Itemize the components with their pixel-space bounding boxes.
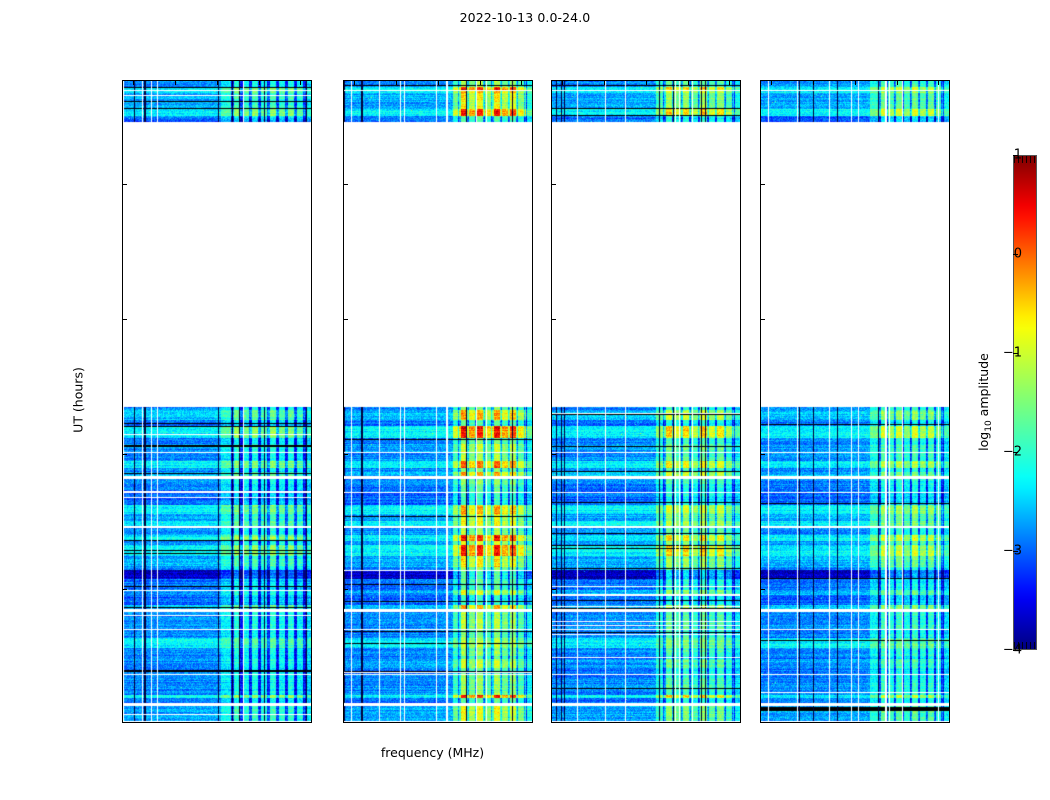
y-tick-mark xyxy=(552,454,556,455)
y-tick-mark xyxy=(123,184,127,185)
x-tick-mark xyxy=(438,81,439,85)
spectrogram-image xyxy=(123,81,311,722)
spectrogram-panel-xy[interactable]: XY, V13*V17=EA18*EA210510152032033535036… xyxy=(551,80,741,723)
colorbar-tick-mark xyxy=(1013,551,1018,552)
x-tick-mark xyxy=(175,81,176,85)
x-tick-mark xyxy=(855,81,856,85)
x-tick-mark xyxy=(217,81,218,85)
x-tick-mark xyxy=(604,81,605,85)
colorbar-gradient xyxy=(1014,156,1036,649)
y-tick-mark xyxy=(344,589,348,590)
colorbar[interactable] xyxy=(1013,155,1037,650)
figure-suptitle: 2022-10-13 0.0-24.0 xyxy=(0,10,1050,25)
spectrogram-image xyxy=(344,81,532,722)
colorbar-label-post: amplitude xyxy=(976,353,991,420)
x-tick-mark xyxy=(396,81,397,85)
y-tick-mark xyxy=(761,589,765,590)
colorbar-label-pre: log xyxy=(976,432,991,451)
y-tick-mark xyxy=(123,589,127,590)
y-tick-mark xyxy=(761,184,765,185)
x-tick-mark xyxy=(521,81,522,85)
y-tick-mark xyxy=(552,319,556,320)
colorbar-tick-mark xyxy=(1013,452,1018,453)
y-tick-mark xyxy=(123,454,127,455)
figure-canvas: 2022-10-13 0.0-24.0 UT (hours) frequency… xyxy=(0,0,1050,800)
spectrogram-image xyxy=(552,81,740,722)
x-tick-mark xyxy=(897,81,898,85)
y-tick-mark xyxy=(344,454,348,455)
colorbar-label-sub: 10 xyxy=(984,420,994,431)
spectrogram-image xyxy=(761,81,949,722)
x-axis-label: frequency (MHz) xyxy=(0,745,865,760)
x-tick-mark xyxy=(813,81,814,85)
x-tick-mark xyxy=(259,81,260,85)
spectrogram-panel-yx[interactable]: YX, V13*V17=EA18*EA210510152032033535036… xyxy=(760,80,950,723)
x-tick-mark xyxy=(354,81,355,85)
x-tick-mark xyxy=(300,81,301,85)
spectrogram-panel-xx[interactable]: XX, V13*V17=EA18*EA210510152032033535036… xyxy=(122,80,312,723)
colorbar-tick-mark xyxy=(1013,155,1018,156)
spectrogram-panel-yy[interactable]: YY, V13*V17=EA18*EA210510152032033535036… xyxy=(343,80,533,723)
x-tick-mark xyxy=(938,81,939,85)
y-tick-mark xyxy=(761,319,765,320)
colorbar-tick-mark xyxy=(1013,254,1018,255)
x-tick-mark xyxy=(133,81,134,85)
colorbar-tick-mark xyxy=(1013,650,1018,651)
x-tick-mark xyxy=(729,81,730,85)
y-tick-mark xyxy=(344,319,348,320)
x-tick-mark xyxy=(646,81,647,85)
y-tick-mark xyxy=(123,319,127,320)
y-axis-label: UT (hours) xyxy=(71,367,86,433)
y-tick-mark xyxy=(761,454,765,455)
x-tick-mark xyxy=(688,81,689,85)
y-tick-mark xyxy=(552,184,556,185)
y-tick-mark xyxy=(552,589,556,590)
x-tick-mark xyxy=(562,81,563,85)
x-tick-mark xyxy=(480,81,481,85)
colorbar-label: log10 amplitude xyxy=(976,353,994,451)
y-tick-mark xyxy=(344,184,348,185)
colorbar-tick-mark xyxy=(1013,353,1018,354)
x-tick-mark xyxy=(771,81,772,85)
